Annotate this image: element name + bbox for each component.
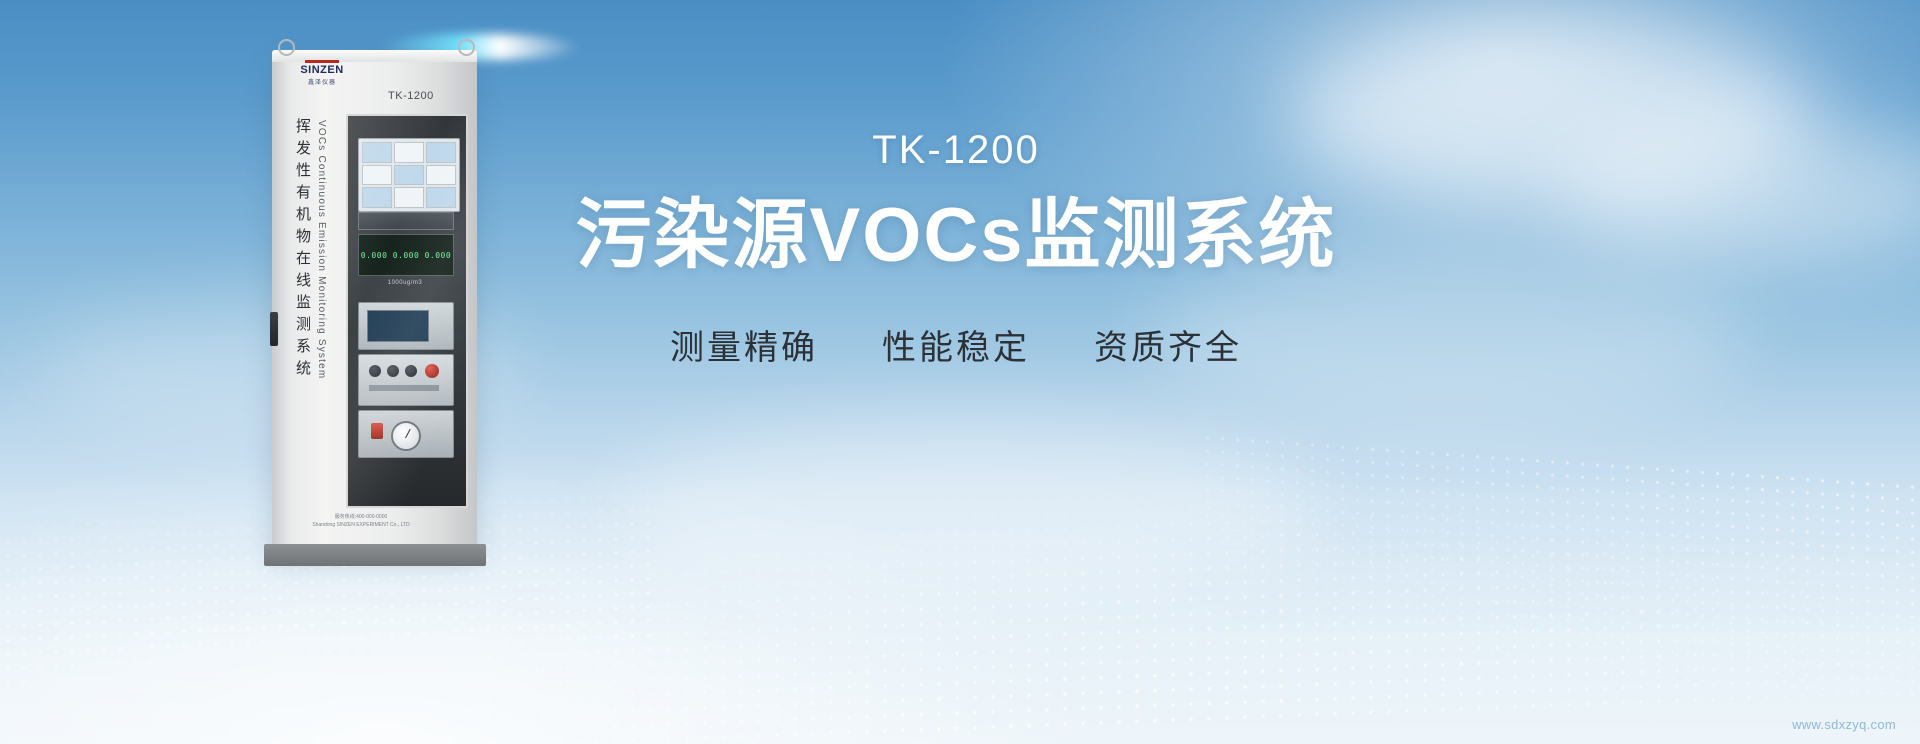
feature-item-2: 性能稳定 (882, 320, 1030, 369)
brand-name: SINZEN (286, 65, 358, 76)
product-banner: SINZEN 鑫泽仪器 TK-1200 挥发性有机物在线监测系统 VOCs Co… (0, 0, 1920, 744)
feature-item-3: 资质齐全 (1094, 320, 1242, 369)
site-watermark: www.sdxzyq.com (1792, 717, 1896, 732)
cabinet-model-plate: TK-1200 (388, 90, 434, 102)
lifting-ring-left-icon (278, 39, 295, 56)
model-number: TK-1200 (556, 130, 1356, 170)
logo-accent-bar (305, 60, 339, 63)
brand-name-cn: 鑫泽仪器 (286, 77, 358, 86)
cabinet-door-window: 0.000 0.000 0.000 1000ug/m3 (346, 114, 468, 508)
product-image: SINZEN 鑫泽仪器 TK-1200 挥发性有机物在线监测系统 VOCs Co… (262, 28, 492, 558)
door-glass-reflection (348, 116, 466, 506)
feature-list: 测量精确 性能稳定 资质齐全 (556, 320, 1356, 369)
company-name-en: Shandong SINZEN EXPERIMENT Co., LTD (286, 522, 436, 530)
cabinet-vertical-text-cn: 挥发性有机物在线监测系统 (288, 118, 310, 382)
mesh-right (480, 397, 1920, 744)
feature-item-1: 测量精确 (670, 320, 818, 369)
cloud-wash-1 (1290, 20, 1810, 210)
service-hotline: 服务热线:400-000-0000 (286, 514, 436, 522)
cloud-wash-5 (620, 420, 1320, 600)
page-title: 污染源VOCs监测系统 (556, 196, 1356, 276)
mesh-far (1200, 431, 1920, 704)
cabinet-base (264, 544, 486, 566)
cabinet-handle (270, 312, 278, 346)
brand-logo: SINZEN 鑫泽仪器 (286, 60, 358, 86)
cloud-wash-2 (1560, 120, 1920, 270)
cabinet-vertical-text-en: VOCs Continuous Emission Monitoring Syst… (316, 120, 327, 379)
banner-copy: TK-1200 污染源VOCs监测系统 测量精确 性能稳定 资质齐全 (556, 130, 1356, 369)
lifting-ring-right-icon (458, 39, 475, 56)
cabinet-footer-text: 服务热线:400-000-0000 Shandong SINZEN EXPERI… (286, 514, 436, 529)
